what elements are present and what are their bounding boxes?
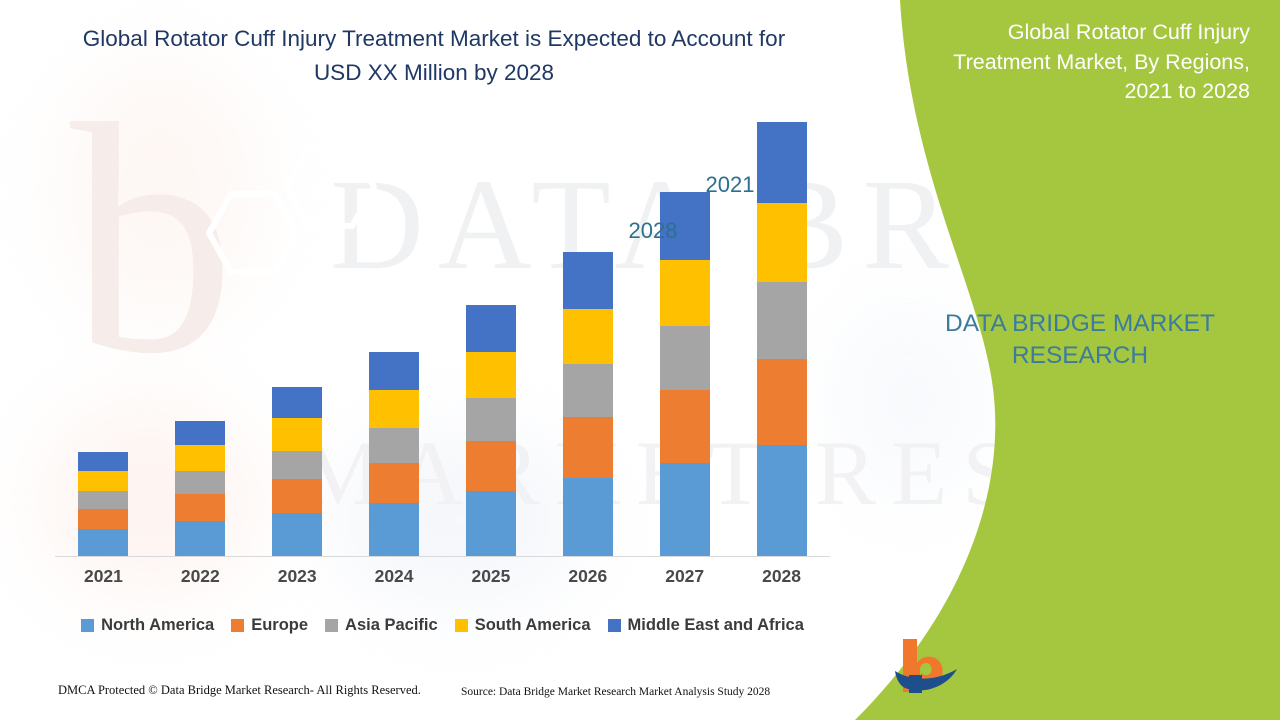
legend-swatch-icon [325, 619, 338, 632]
stacked-bar [175, 421, 225, 556]
x-axis-line [55, 556, 830, 557]
legend-label: South America [475, 616, 591, 635]
legend-label: Asia Pacific [345, 616, 438, 635]
green-panel-content: Global Rotator Cuff Injury Treatment Mar… [800, 0, 1280, 720]
chart-legend: North AmericaEuropeAsia PacificSouth Ame… [55, 616, 830, 635]
x-axis-tick-label: 2025 [443, 566, 540, 587]
x-axis-tick-label: 2027 [636, 566, 733, 587]
stacked-bar [660, 192, 710, 556]
bar-segment [369, 390, 419, 428]
panel-title: Global Rotator Cuff Injury Treatment Mar… [920, 18, 1250, 107]
bar-segment [660, 463, 710, 556]
bar-column [539, 110, 636, 556]
bar-segment [272, 418, 322, 450]
stacked-bar [369, 352, 419, 556]
hexagon-2028-label: 2028 [613, 218, 693, 244]
legend-item[interactable]: South America [455, 616, 591, 635]
bar-segment [660, 390, 710, 463]
legend-label: Europe [251, 616, 308, 635]
bar-segment [563, 417, 613, 478]
hexagon-2021-label: 2021 [690, 172, 770, 198]
bar-segment [78, 491, 128, 509]
stacked-bar [466, 305, 516, 556]
legend-item[interactable]: Asia Pacific [325, 616, 438, 635]
bar-segment [466, 305, 516, 352]
bar-segment [466, 398, 516, 441]
bar-segment [78, 509, 128, 529]
stacked-bar [78, 452, 128, 556]
logo-mark-icon [893, 635, 963, 697]
legend-swatch-icon [455, 619, 468, 632]
bar-segment [660, 326, 710, 390]
page-title: Global Rotator Cuff Injury Treatment Mar… [64, 22, 804, 90]
bar-segment [563, 478, 613, 556]
legend-swatch-icon [608, 619, 621, 632]
bar-segment [563, 364, 613, 417]
footer-copyright: DMCA Protected © Data Bridge Market Rese… [58, 683, 421, 698]
bar-segment [563, 309, 613, 364]
bar-segment [175, 421, 225, 445]
bar-segment [563, 252, 613, 309]
bar-segment [660, 260, 710, 326]
bar-column [346, 110, 443, 556]
bar-segment [78, 529, 128, 556]
brand-name: DATA BRIDGE MARKET RESEARCH [915, 308, 1245, 373]
bar-segment [175, 445, 225, 471]
x-axis-labels: 20212022202320242025202620272028 [55, 566, 830, 587]
x-axis-tick-label: 2022 [152, 566, 249, 587]
company-logo: DATA BRIDGE MARKET RESEARCH [893, 635, 1113, 697]
x-axis-tick-label: 2023 [249, 566, 346, 587]
legend-item[interactable]: Middle East and Africa [608, 616, 804, 635]
bar-segment [369, 352, 419, 390]
bar-column [443, 110, 540, 556]
bar-segment [369, 463, 419, 504]
bar-segment [175, 494, 225, 521]
stacked-bar [563, 252, 613, 556]
x-axis-tick-label: 2026 [539, 566, 636, 587]
legend-label: North America [101, 616, 214, 635]
bar-column [55, 110, 152, 556]
bar-segment [175, 471, 225, 494]
bar-segment [272, 451, 322, 479]
bar-segment [466, 441, 516, 491]
bar-segment [78, 471, 128, 491]
bar-column [152, 110, 249, 556]
legend-item[interactable]: North America [81, 616, 214, 635]
bar-segment [466, 352, 516, 398]
bar-segment [78, 452, 128, 471]
stacked-bar [272, 387, 322, 556]
legend-swatch-icon [81, 619, 94, 632]
bar-segment [272, 479, 322, 513]
x-axis-tick-label: 2021 [55, 566, 152, 587]
bar-segment [466, 491, 516, 556]
legend-label: Middle East and Africa [628, 616, 804, 635]
bar-segment [175, 521, 225, 556]
x-axis-tick-label: 2024 [346, 566, 443, 587]
footer-source: Source: Data Bridge Market Research Mark… [461, 686, 770, 698]
bar-segment [272, 387, 322, 418]
legend-item[interactable]: Europe [231, 616, 308, 635]
bar-segment [369, 503, 419, 556]
infographic-root: b DATA BRIDGE MARKET RESEARCH Global Rot… [0, 0, 1280, 720]
bar-segment [272, 513, 322, 556]
legend-swatch-icon [231, 619, 244, 632]
bar-segment [369, 428, 419, 463]
bar-column [249, 110, 346, 556]
